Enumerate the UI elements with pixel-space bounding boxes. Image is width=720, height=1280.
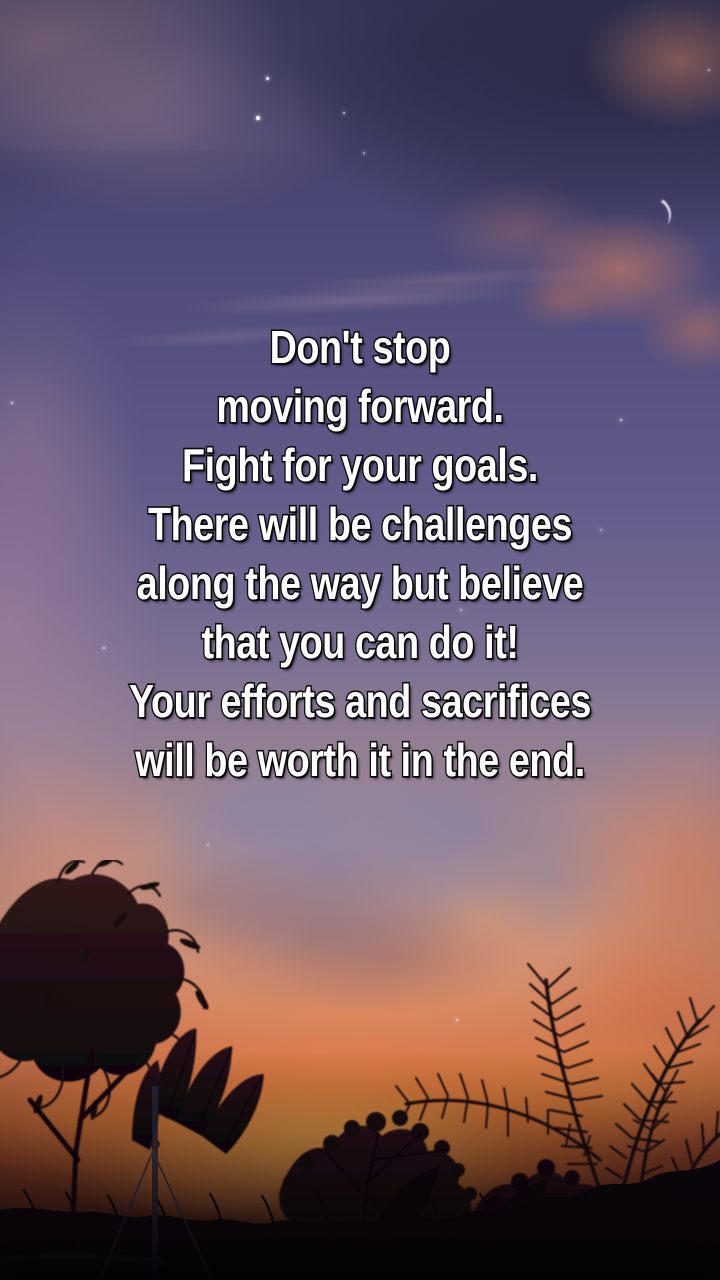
star	[256, 116, 260, 120]
quote-line-6: that you can do it!	[65, 613, 655, 672]
quote-line-2: moving forward.	[65, 377, 655, 436]
quote-line-5: along the way but believe	[65, 554, 655, 613]
star	[708, 69, 710, 71]
quote-line-1: Don't stop	[65, 318, 655, 377]
quote-text-block: Don't stop moving forward. Fight for you…	[0, 318, 720, 790]
crescent-moon-icon	[645, 193, 686, 234]
quote-line-3: Fight for your goals.	[65, 436, 655, 495]
star	[363, 152, 365, 154]
quote-line-8: will be worth it in the end.	[65, 731, 655, 790]
star	[343, 112, 345, 114]
quote-line-4: There will be challenges	[65, 495, 655, 554]
film-grain-overlay	[0, 0, 300, 150]
star	[266, 77, 269, 80]
quote-wallpaper: Don't stop moving forward. Fight for you…	[0, 0, 720, 1280]
quote-line-7: Your efforts and sacrifices	[65, 672, 655, 731]
foliage-silhouette	[0, 860, 720, 1280]
star	[207, 844, 209, 846]
